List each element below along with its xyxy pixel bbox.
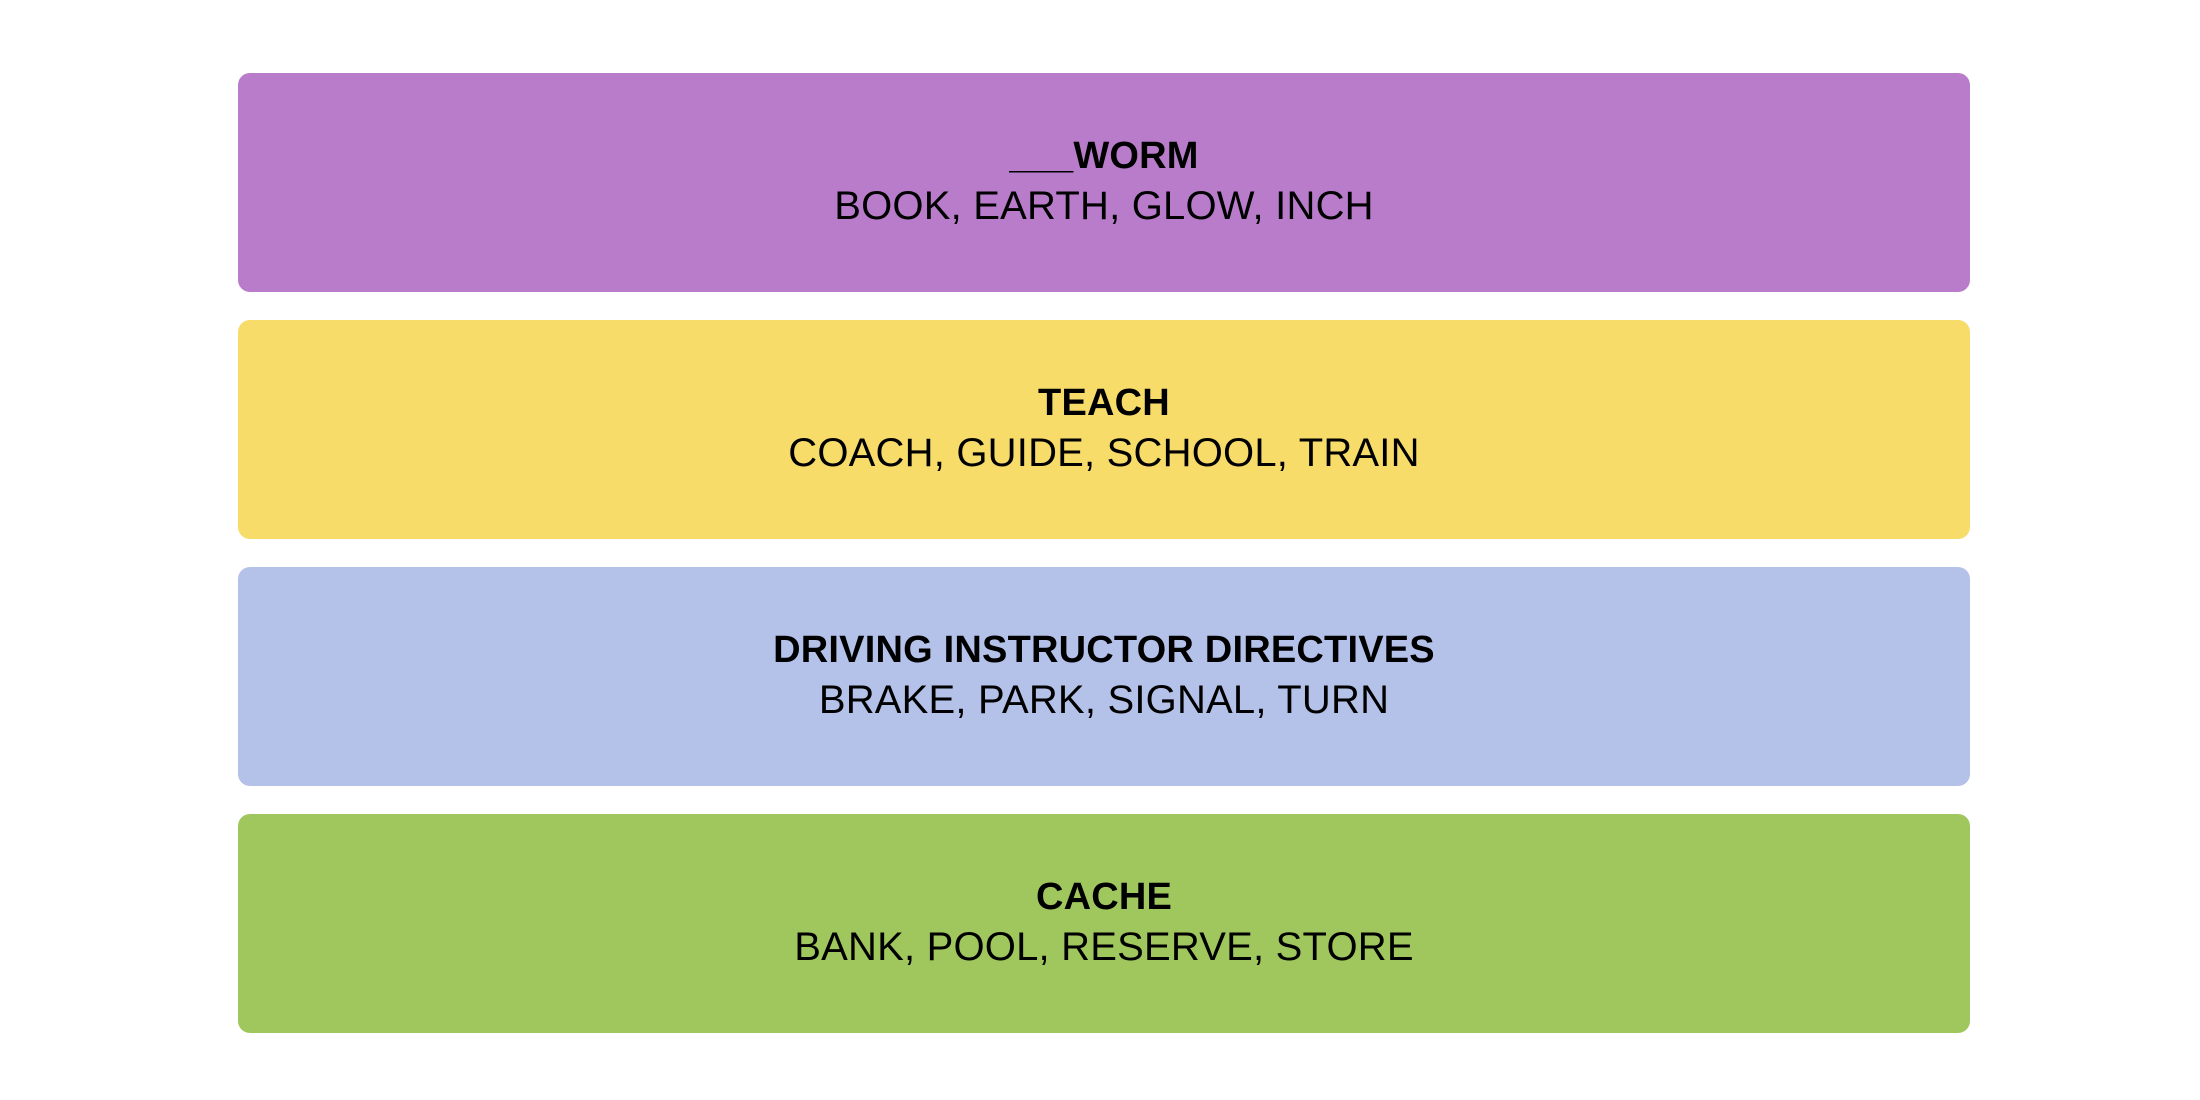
category-members: BOOK, EARTH, GLOW, INCH	[810, 183, 1398, 230]
category-members: BRAKE, PARK, SIGNAL, TURN	[795, 677, 1413, 724]
category-band[interactable]: CACHE BANK, POOL, RESERVE, STORE	[238, 814, 1970, 1033]
category-title: TEACH	[1014, 381, 1194, 426]
category-title: ___WORM	[985, 134, 1222, 179]
category-title: CACHE	[1012, 875, 1196, 920]
category-band[interactable]: TEACH COACH, GUIDE, SCHOOL, TRAIN	[238, 320, 1970, 539]
category-members: BANK, POOL, RESERVE, STORE	[770, 924, 1437, 971]
category-band[interactable]: DRIVING INSTRUCTOR DIRECTIVES BRAKE, PAR…	[238, 567, 1970, 786]
category-title: DRIVING INSTRUCTOR DIRECTIVES	[749, 628, 1459, 673]
category-members: COACH, GUIDE, SCHOOL, TRAIN	[764, 430, 1443, 477]
connections-solution-board: ___WORM BOOK, EARTH, GLOW, INCH TEACH CO…	[238, 73, 1970, 1038]
category-band[interactable]: ___WORM BOOK, EARTH, GLOW, INCH	[238, 73, 1970, 292]
